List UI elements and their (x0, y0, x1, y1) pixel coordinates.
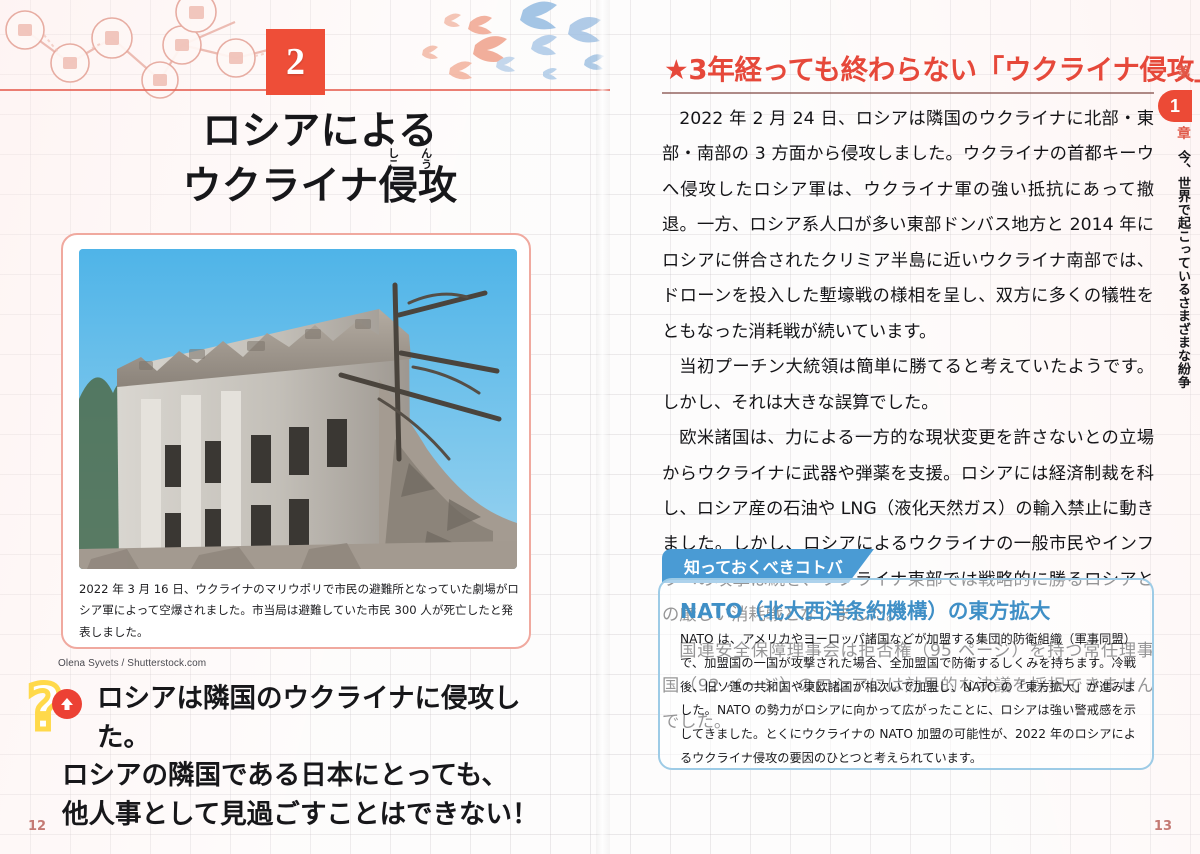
section-number-badge: 2 (266, 29, 325, 95)
page-title-line2-kana: ウクライナ (183, 164, 379, 209)
side-tab-chapter-number: 1 (1158, 90, 1192, 122)
side-tab-subtitle: 今、世界で起こっているさまざまな紛争 (1160, 150, 1190, 389)
heading-text: 3年経っても終わらない「ウクライナ侵攻」 (688, 54, 1200, 86)
page-title: ロシアによる ウクライナしんこう侵攻 (60, 104, 580, 215)
photo-card: 2022 年 3 月 16 日、ウクライナのマリウポリで市民の避難所となっていた… (61, 233, 531, 649)
info-box: NATO（北大西洋条約機構）の東方拡大 NATO は、アメリカやヨーロッパ諸国な… (658, 578, 1154, 770)
summary-line-3: 他人事として見過ごすことはできない！ (62, 796, 562, 835)
page-title-line2-kanji: 侵攻 (379, 164, 458, 209)
summary-line-1: ロシアは隣国のウクライナに侵攻した。 (62, 680, 562, 757)
photo-caption: 2022 年 3 月 16 日、ウクライナのマリウポリで市民の避難所となっていた… (79, 579, 521, 643)
page-title-ruby: しんこう (379, 148, 458, 170)
book-spread: 2 ロシアによる ウクライナしんこう侵攻 (0, 0, 1200, 854)
folio-left: 12 (28, 819, 46, 834)
right-page: ★3年経っても終わらない「ウクライナ侵攻」 2022 年 2 月 24 日、ロシ… (600, 0, 1200, 854)
left-page: 2 ロシアによる ウクライナしんこう侵攻 (0, 0, 600, 854)
chapter-side-tab: 第 1 章 今、世界で起こっているさまざまな紛争 (1158, 62, 1192, 392)
page-title-line2-kanji-rubywrap: しんこう侵攻 (379, 159, 458, 214)
info-box-body: NATO は、アメリカやヨーロッパ諸国などが加盟する集団的防衛組織（軍事同盟）で… (680, 628, 1136, 771)
photo-credit: Olena Syvets / Shutterstock.com (58, 658, 206, 669)
page-title-line2: ウクライナしんこう侵攻 (60, 159, 580, 214)
summary-line-2: ロシアの隣国である日本にとっても、 (62, 757, 562, 796)
body-paragraph: 2022 年 2 月 24 日、ロシアは隣国のウクライナに北部・東部・南部の 3… (662, 102, 1154, 350)
summary-callout: ロシアは隣国のウクライナに侵攻した。 ロシアの隣国である日本にとっても、 他人事… (62, 680, 562, 835)
folio-right: 13 (1154, 819, 1172, 834)
body-paragraph: 当初プーチン大統領は簡単に勝てると考えていたようです。しかし、それは大きな誤算で… (662, 350, 1154, 421)
side-tab-dai: 第 (1160, 65, 1190, 79)
photo-illustration (79, 249, 517, 569)
side-tab-shou: 章 (1160, 126, 1190, 140)
section-heading: ★3年経っても終わらない「ウクライナ侵攻」 (664, 55, 1149, 87)
heading-underline (662, 92, 1154, 94)
heading-star-icon: ★ (664, 54, 688, 86)
photo-destroyed-theatre (79, 249, 517, 569)
info-box-title: NATO（北大西洋条約機構）の東方拡大 (680, 594, 1050, 624)
